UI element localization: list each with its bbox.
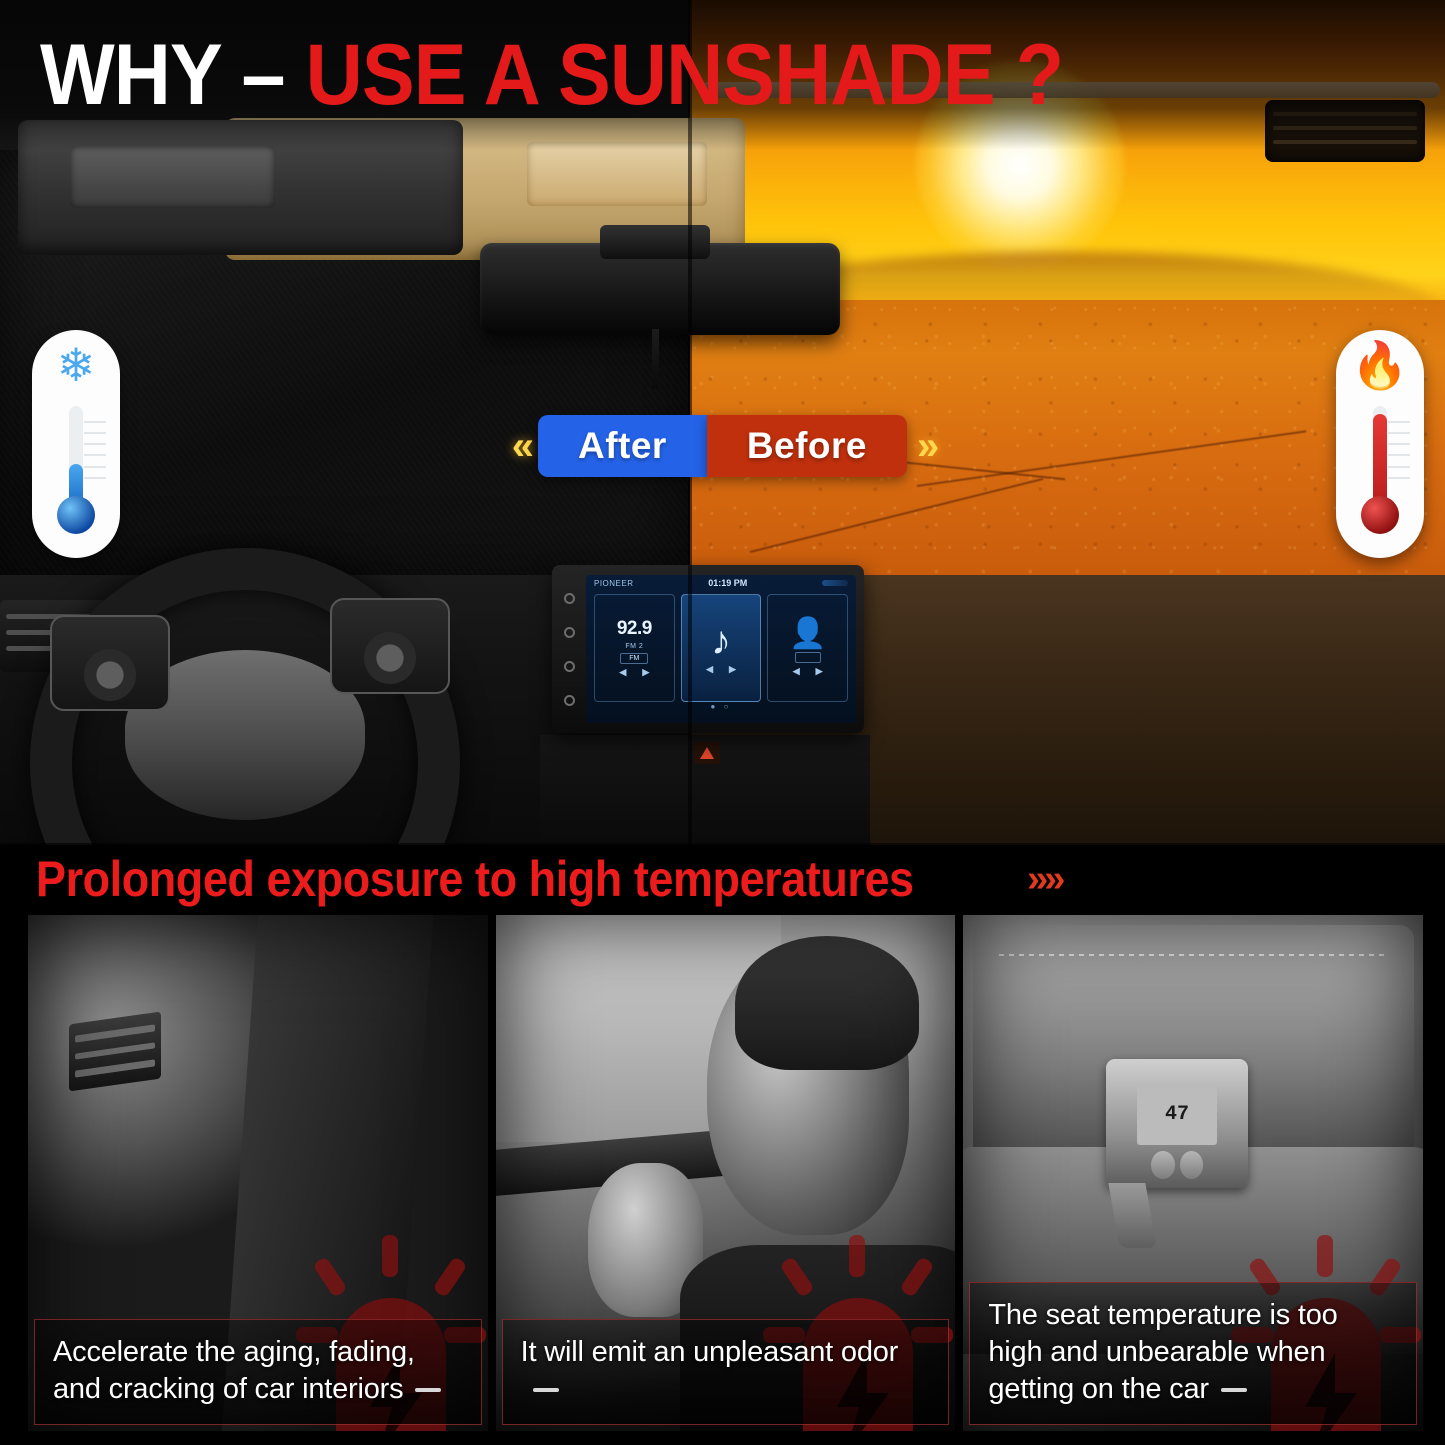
prev-track-icon[interactable]: ◀: [706, 664, 713, 675]
panel-interior-aging: Accelerate the aging, fading, and cracki…: [28, 915, 488, 1431]
thermometer-bulb: [57, 496, 95, 534]
panel-seat-temperature: 47 The seat temperature is too high and: [963, 915, 1423, 1431]
media-card[interactable]: ♪ ◀ ▶: [681, 594, 762, 702]
chevron-triple-icon: »»: [1027, 858, 1061, 901]
title-red-part: USE A SUNSHADE ?: [306, 27, 1064, 123]
radio-card[interactable]: 92.9 FM 2 FM ◀ ▶: [594, 594, 675, 702]
hazard-button[interactable]: [694, 742, 720, 764]
mid-headline-text: Prolonged exposure to high temperatures: [36, 850, 914, 908]
mirror-mount: [600, 225, 710, 259]
panel-unpleasant-odor: It will emit an unpleasant odor: [496, 915, 956, 1431]
thermometer-bulb: [1361, 496, 1399, 534]
phone-card[interactable]: 👤 ◀ ▶: [767, 594, 848, 702]
radio-seek-controls[interactable]: ◀ ▶: [619, 667, 649, 678]
chevron-right-icon: »: [907, 424, 943, 469]
volume-button-icon[interactable]: [564, 627, 575, 638]
person-icon: 👤: [789, 619, 826, 649]
head-unit-status-bar: PIONEER 01:19 PM: [586, 575, 856, 590]
prev-icon[interactable]: ◀: [619, 667, 626, 678]
radio-frequency: 92.9: [617, 618, 652, 640]
next-contact-icon[interactable]: ▶: [816, 666, 823, 677]
panel-caption-text: The seat temperature is too high and unb…: [988, 1299, 1337, 1405]
steering-controls-left[interactable]: [50, 615, 170, 711]
after-badge[interactable]: After: [538, 415, 707, 477]
radio-band: FM 2: [625, 643, 643, 650]
head-unit-side-buttons[interactable]: [558, 581, 580, 717]
dpad-icon: [364, 632, 416, 684]
caption-dash-icon: [1221, 1388, 1247, 1392]
home-button-icon[interactable]: [564, 695, 575, 706]
caption-dash-icon: [415, 1388, 441, 1392]
mid-headline-bar: Prolonged exposure to high temperatures …: [0, 843, 1445, 915]
panel-caption: It will emit an unpleasant odor: [502, 1319, 950, 1425]
media-controls[interactable]: ◀ ▶: [706, 664, 736, 675]
phone-controls[interactable]: ◀ ▶: [793, 666, 823, 677]
infotainment-head-unit[interactable]: PIONEER 01:19 PM 92.9 FM 2 FM ◀ ▶: [552, 565, 864, 733]
panel-caption-text: It will emit an unpleasant odor: [521, 1336, 898, 1368]
prev-contact-icon[interactable]: ◀: [793, 666, 800, 677]
contact-chip[interactable]: [795, 652, 821, 663]
chevron-left-icon: «: [502, 424, 538, 469]
dpad-icon: [84, 649, 136, 701]
cold-thermometer: ❄: [32, 330, 120, 558]
mirror-stalk: [652, 329, 659, 389]
rearview-mirror: [480, 243, 840, 335]
flame-icon: 🔥: [1336, 342, 1424, 388]
header-bar: WHY – USE A SUNSHADE ?: [0, 0, 1445, 150]
head-unit-cards: 92.9 FM 2 FM ◀ ▶ ♪ ◀ ▶: [586, 590, 856, 702]
power-button-icon[interactable]: [564, 593, 575, 604]
hot-thermometer: 🔥: [1336, 330, 1424, 558]
page-title: WHY – USE A SUNSHADE ?: [40, 32, 1063, 118]
panel-caption: The seat temperature is too high and unb…: [969, 1282, 1417, 1425]
caption-dash-icon: [533, 1388, 559, 1392]
signal-indicator-icon: [822, 580, 848, 586]
panel-caption-text: Accelerate the aging, fading, and cracki…: [53, 1336, 415, 1405]
snowflake-icon: ❄: [32, 342, 120, 388]
visor-mirror-left: [70, 146, 275, 208]
steering-controls-right[interactable]: [330, 598, 450, 694]
next-track-icon[interactable]: ▶: [729, 664, 736, 675]
mute-button-icon[interactable]: [564, 661, 575, 672]
sunshade-infographic: WARNING: [0, 0, 1445, 1445]
head-unit-clock: 01:19 PM: [708, 578, 747, 588]
page-indicator: ● ○: [586, 702, 856, 711]
radio-preset[interactable]: FM: [620, 653, 648, 664]
visor-mirror-right: [527, 142, 707, 206]
before-after-badges: « After Before »: [0, 415, 1445, 477]
next-icon[interactable]: ▶: [642, 667, 649, 678]
before-badge[interactable]: Before: [707, 415, 907, 477]
title-white-part: WHY –: [40, 27, 285, 123]
panel-caption: Accelerate the aging, fading, and cracki…: [34, 1319, 482, 1425]
head-unit-brand: PIONEER: [594, 579, 634, 588]
head-unit-screen[interactable]: PIONEER 01:19 PM 92.9 FM 2 FM ◀ ▶: [586, 575, 856, 723]
music-note-icon: ♪: [711, 621, 731, 661]
consequence-panels: Accelerate the aging, fading, and cracki…: [0, 915, 1445, 1445]
